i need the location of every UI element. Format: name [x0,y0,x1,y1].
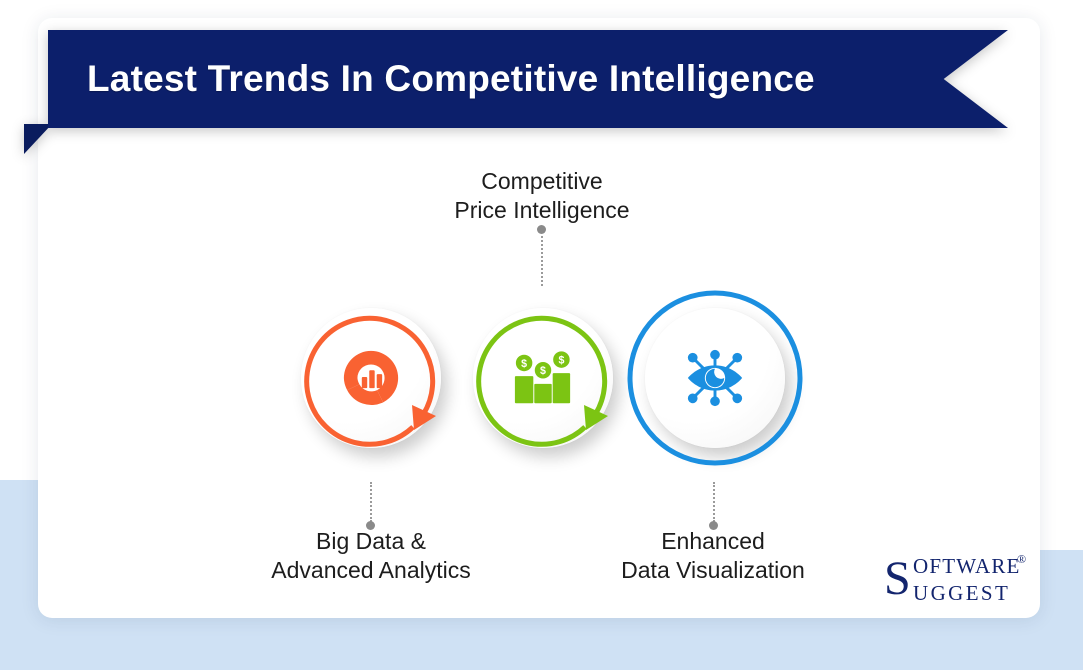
ring-circle-blue-icon [625,288,805,468]
node-data-visualization[interactable] [625,288,805,468]
node-label-price-intelligence: Competitive Price Intelligence [392,167,692,225]
node-big-data[interactable] [281,288,461,468]
infographic-canvas: Latest Trends In Competitive Intelligenc… [0,0,1083,670]
connector-line-viz [713,482,715,522]
connector-dot-price [537,225,546,234]
connector-line-bigdata [370,482,372,522]
connector-line-price [541,236,543,286]
logo-word-suggest: UGGEST [913,583,1010,604]
logo-word-software: OFTWARE [913,556,1021,577]
node-label-big-data: Big Data & Advanced Analytics [221,527,521,585]
logo-big-s: S [884,552,911,606]
node-price-intelligence[interactable]: $ $ $ [453,288,633,468]
node-label-data-visualization: Enhanced Data Visualization [563,527,863,585]
logo-registered-icon: ® [1017,553,1026,565]
ring-arc-green-icon [453,288,633,468]
ring-arc-orange-icon [281,288,461,468]
